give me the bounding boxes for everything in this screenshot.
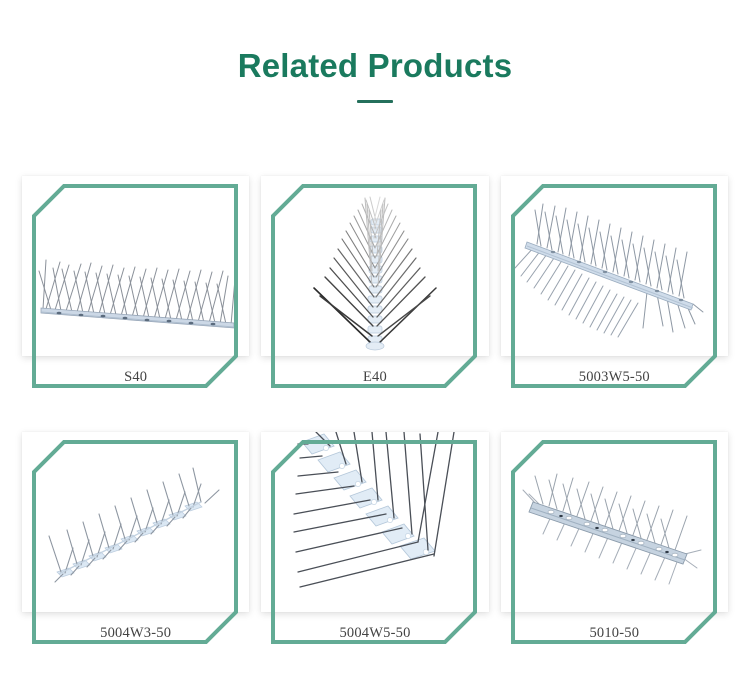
product-image-card[interactable] (261, 176, 488, 356)
product-label: E40 (261, 369, 488, 386)
product-card-5003w5-50[interactable]: 5003W5-50 (501, 140, 728, 386)
product-image-card[interactable] (261, 432, 488, 612)
product-card-e40[interactable]: E40 (261, 140, 488, 386)
product-image-card[interactable] (22, 432, 249, 612)
related-products-page: Related Products (0, 0, 750, 681)
page-title: Related Products (0, 48, 750, 84)
product-label: 5010-50 (501, 625, 728, 642)
product-grid: S40 (22, 140, 728, 642)
product-label: 5004W3-50 (22, 625, 249, 642)
product-photo-5004w3-50 (22, 432, 249, 612)
product-image-card[interactable] (501, 432, 728, 612)
product-photo-s40 (22, 176, 249, 356)
section-header: Related Products (0, 0, 750, 103)
product-label: 5003W5-50 (501, 369, 728, 386)
product-photo-5003w5-50 (501, 176, 728, 356)
product-card-s40[interactable]: S40 (22, 140, 249, 386)
product-card-5004w3-50[interactable]: 5004W3-50 (22, 396, 249, 642)
product-card-5010-50[interactable]: 5010-50 (501, 396, 728, 642)
product-photo-5004w5-50 (261, 432, 488, 612)
product-card-5004w5-50[interactable]: 5004W5-50 (261, 396, 488, 642)
product-photo-5010-50 (501, 432, 728, 612)
product-label: S40 (22, 369, 249, 386)
product-label: 5004W5-50 (261, 625, 488, 642)
title-divider (357, 100, 393, 103)
product-image-card[interactable] (501, 176, 728, 356)
product-image-card[interactable] (22, 176, 249, 356)
product-photo-e40 (261, 176, 488, 356)
